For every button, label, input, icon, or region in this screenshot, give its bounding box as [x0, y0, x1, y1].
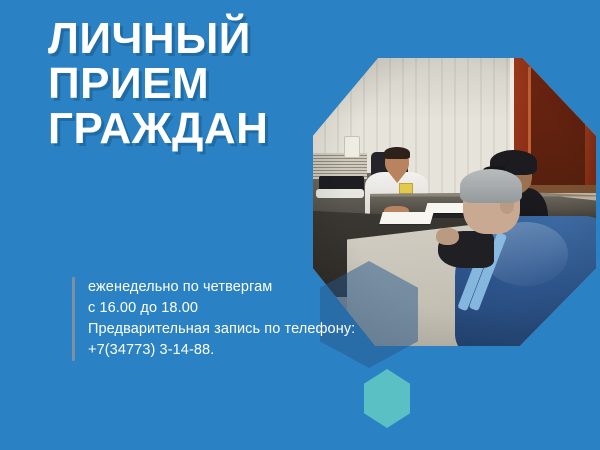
schedule-lines: еженедельно по четвергам с 16.00 до 18.0… — [88, 277, 355, 361]
page-title: ЛИЧНЫЙ ПРИЕМ ГРАЖДАН — [48, 16, 348, 151]
title-line-2: ПРИЕМ — [48, 61, 348, 106]
official-hair — [384, 147, 409, 159]
phone-number: +7(34773) 3-14-88. — [88, 340, 355, 361]
phone-handset — [316, 189, 364, 198]
door-panel — [528, 67, 585, 194]
schedule-hours: с 16.00 до 18.00 — [88, 298, 355, 319]
title-line-3: ГРАЖДАН — [48, 106, 348, 151]
hexagon-decor-small — [364, 369, 410, 428]
accent-rule — [72, 277, 75, 361]
schedule-frequency: еженедельно по четвергам — [88, 277, 355, 298]
appointment-note: Предварительная запись по телефону: — [88, 319, 355, 340]
visitor-two-cap — [460, 169, 522, 204]
official-badge — [399, 183, 412, 194]
visitor-two-hand — [436, 228, 459, 245]
poster-canvas: ЛИЧНЫЙ ПРИЕМ ГРАЖДАН — [0, 0, 600, 450]
title-line-1: ЛИЧНЫЙ — [48, 16, 348, 61]
schedule-info-block: еженедельно по четвергам с 16.00 до 18.0… — [72, 277, 355, 361]
document-sheet — [379, 212, 433, 224]
